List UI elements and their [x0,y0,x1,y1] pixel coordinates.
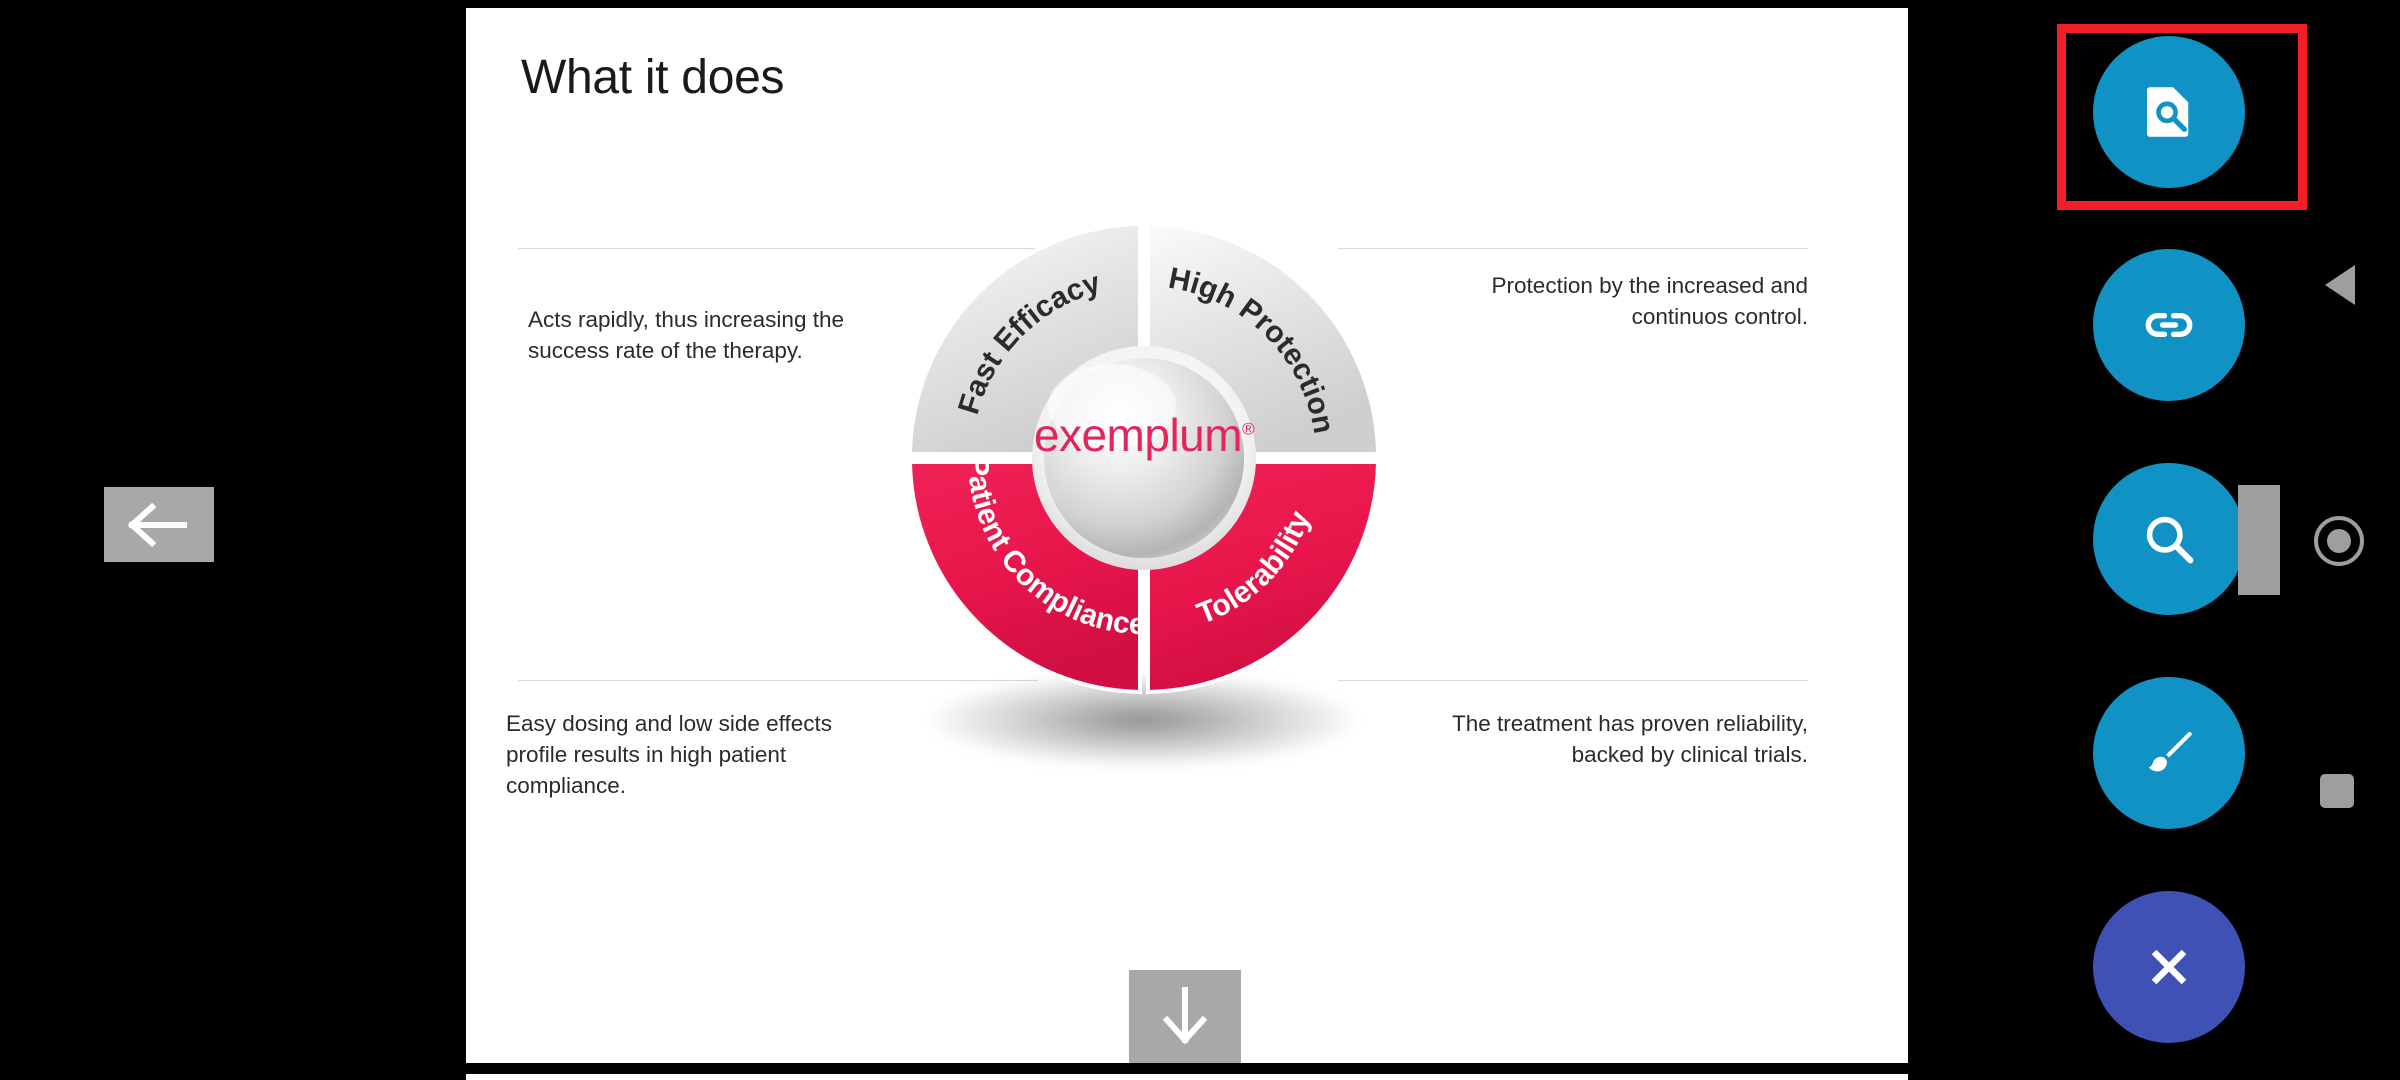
screen-root: What it does Acts rapidly, thus increasi… [0,0,2400,1080]
search-icon [2137,507,2201,571]
callout-fast-efficacy: Acts rapidly, thus increasing the succes… [528,304,888,366]
next-page-button[interactable] [1129,970,1241,1063]
search-fab[interactable] [2093,463,2245,615]
brush-fab[interactable] [2093,677,2245,829]
brand-name: exemplum [1034,409,1242,461]
next-slide-edge[interactable] [466,1074,1908,1080]
system-home-button[interactable] [2305,507,2373,575]
previous-button[interactable] [104,487,214,562]
donut-diagram: Fast Efficacy High Protection Patient Co… [906,220,1466,820]
brand-logo: exemplum® [906,408,1382,462]
link-fab[interactable] [2093,249,2245,401]
system-recents-button[interactable] [2313,767,2361,815]
brush-icon [2137,721,2201,785]
square-recents-icon [2320,774,2354,808]
link-icon [2138,294,2200,356]
document-search-fab[interactable] [2093,36,2245,188]
circle-home-icon [2311,513,2367,569]
callout-tolerability: The treatment has proven reliability, ba… [1426,708,1808,770]
callout-patient-compliance: Easy dosing and low side effects profile… [506,708,878,801]
document-search-icon [2136,79,2202,145]
callout-high-protection: Protection by the increased and continuo… [1446,270,1808,332]
registered-trademark-icon: ® [1242,420,1254,439]
recents-chip [2238,485,2280,595]
close-icon [2139,937,2199,997]
slide-canvas[interactable]: What it does Acts rapidly, thus increasi… [466,8,1908,1063]
arrow-left-icon [128,503,190,547]
close-fab[interactable] [2093,891,2245,1043]
triangle-back-icon [2319,261,2361,309]
page-title: What it does [521,50,784,105]
system-back-button[interactable] [2310,255,2370,315]
arrow-down-icon [1162,986,1208,1048]
